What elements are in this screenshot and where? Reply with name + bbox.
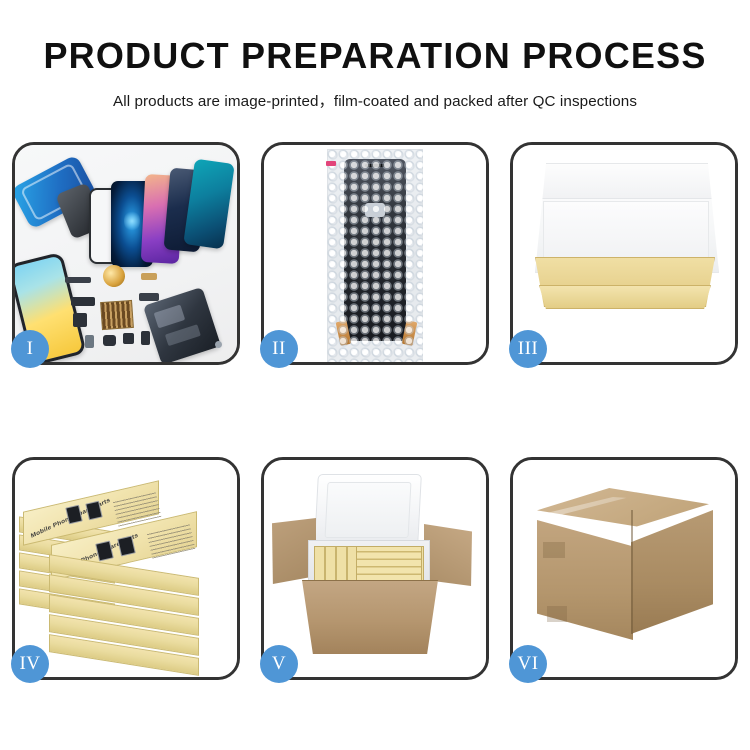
lcd-flex-cable <box>368 207 383 315</box>
carton-vertical-edge <box>631 510 633 634</box>
foam-lid-open <box>314 474 422 546</box>
step-panel-6[interactable]: VI <box>510 457 738 680</box>
carton-body-open <box>302 580 438 654</box>
gold-box-front-face <box>539 285 711 309</box>
step-panel-5[interactable]: V <box>261 457 489 680</box>
gold-boxes-row-2 <box>356 546 422 582</box>
steps-grid: I II III <box>12 142 738 680</box>
step-badge-4: IV <box>11 645 49 683</box>
step-5-image <box>264 460 486 677</box>
bag-label-sticker <box>326 161 336 166</box>
spare-part-flex-3 <box>103 335 116 346</box>
step-badge-2: II <box>260 330 298 368</box>
spare-part-strip-1 <box>65 277 91 283</box>
spare-part-flex-6 <box>141 331 150 345</box>
header: PRODUCT PREPARATION PROCESS All products… <box>0 0 750 111</box>
spare-part-vibrator <box>101 263 126 288</box>
spare-part-flex-5 <box>85 335 94 348</box>
step-6-image <box>513 460 735 677</box>
page-title: PRODUCT PREPARATION PROCESS <box>0 38 750 74</box>
spare-part-strip-2 <box>141 273 157 280</box>
carton-right-face <box>631 510 713 634</box>
step-2-image <box>264 145 486 362</box>
page-subtitle: All products are image-printed，film-coat… <box>0 89 750 111</box>
step-1-image <box>15 145 237 362</box>
spare-part-flex-2 <box>73 313 87 327</box>
lcd-connector <box>365 203 385 217</box>
carton-seam-upper <box>543 542 565 558</box>
spare-part-flex-1 <box>71 297 95 306</box>
gold-box-stack: Mobile Phone Spare Parts Mobile Phone Sp… <box>19 482 233 668</box>
step-badge-5: V <box>260 645 298 683</box>
step-panel-4[interactable]: Mobile Phone Spare Parts Mobile Phone Sp… <box>12 457 240 680</box>
carton-flap-right <box>424 524 472 586</box>
step-badge-6: VI <box>509 645 547 683</box>
carton-seam-lower <box>547 606 567 622</box>
step-badge-1: I <box>11 330 49 368</box>
product-preparation-infographic: PRODUCT PREPARATION PROCESS All products… <box>0 0 750 750</box>
step-3-image <box>513 145 735 362</box>
step-panel-3[interactable]: III <box>510 142 738 365</box>
spare-part-chip-grid <box>100 300 134 330</box>
spare-part-strip-3 <box>139 293 159 301</box>
step-badge-3: III <box>509 330 547 368</box>
step-4-image: Mobile Phone Spare Parts Mobile Phone Sp… <box>15 460 237 677</box>
carton-left-face <box>537 520 633 640</box>
spare-part-flex-4 <box>123 333 134 344</box>
step-panel-1[interactable]: I <box>12 142 240 365</box>
step-panel-2[interactable]: II <box>261 142 489 365</box>
spare-part-screw <box>215 341 222 348</box>
